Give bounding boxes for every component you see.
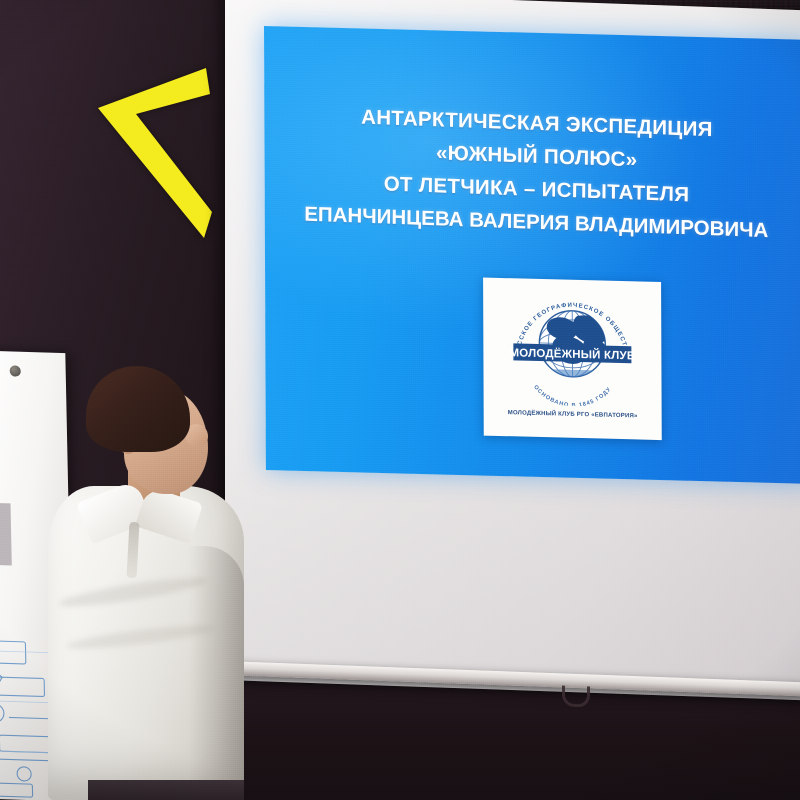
photo-scene: АНТАРКТИЧЕСКАЯ ЭКСПЕДИЦИЯ «ЮЖНЫЙ ПОЛЮС» … [0, 0, 800, 800]
emblem-arc-bottom-text: ОСНОВАНО В 1845 ГОДУ [532, 384, 613, 407]
flipchart-clip [10, 365, 21, 376]
projected-slide: АНТАРКТИЧЕСКАЯ ЭКСПЕДИЦИЯ «ЮЖНЫЙ ПОЛЮС» … [264, 26, 800, 484]
presenter-trousers [88, 780, 244, 800]
slide-logo-card: РУССКОЕ ГЕОГРАФИЧЕСКОЕ ОБЩЕСТВО ОСНОВАНО… [483, 278, 662, 441]
logo-caption: МОЛОДЁЖНЫЙ КЛУБ РГО «ЕВПАТОРИЯ» [484, 410, 662, 421]
screen-hook [562, 686, 590, 708]
presenter-standing [36, 366, 252, 800]
flipchart-grey-patch [0, 502, 12, 565]
russian-geographical-society-youth-club-emblem: РУССКОЕ ГЕОГРАФИЧЕСКОЕ ОБЩЕСТВО ОСНОВАНО… [497, 284, 648, 408]
yellow-chevron-wall-graphic [88, 62, 214, 242]
slide-title-block: АНТАРКТИЧЕСКАЯ ЭКСПЕДИЦИЯ «ЮЖНЫЙ ПОЛЮС» … [264, 97, 800, 248]
presenter-hair [86, 366, 190, 452]
